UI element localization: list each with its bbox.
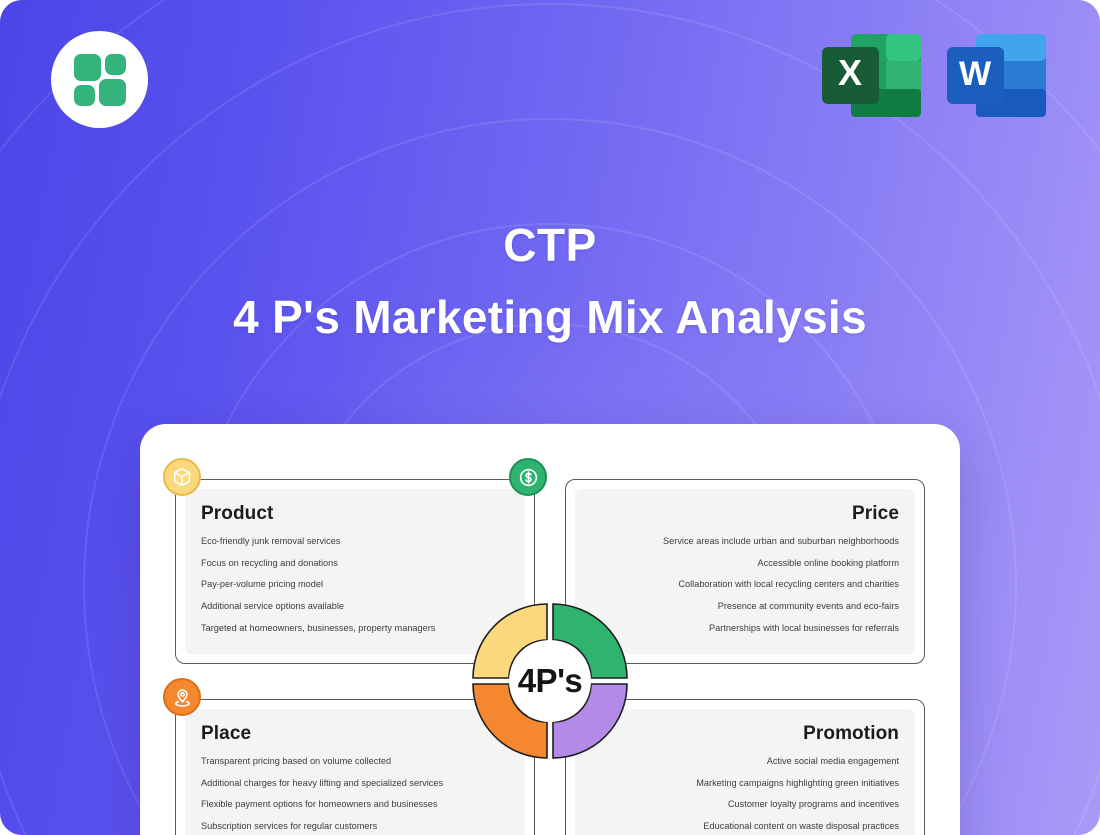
list-item: Marketing campaigns highlighting green i…	[591, 779, 899, 788]
list-item: Collaboration with local recycling cente…	[591, 580, 899, 589]
page-title: 4 P's Marketing Mix Analysis	[0, 294, 1100, 340]
matrix-card: Product Eco-friendly junk removal servic…	[140, 424, 960, 835]
list-item: Accessible online booking platform	[591, 559, 899, 568]
dollar-coin-icon[interactable]	[509, 458, 547, 496]
list-item: Eco-friendly junk removal services	[201, 537, 509, 546]
poster-canvas: X W CTP 4 P's Marketing Mix Analysis Pro…	[0, 0, 1100, 835]
word-icon[interactable]: W	[944, 28, 1049, 123]
title-eyebrow: CTP	[0, 222, 1100, 268]
excel-icon[interactable]: X	[819, 28, 924, 123]
brand-logo[interactable]	[51, 31, 148, 128]
list-item: Additional charges for heavy lifting and…	[201, 779, 509, 788]
quadrant-title-promotion: Promotion	[803, 723, 899, 745]
list-item: Focus on recycling and donations	[201, 559, 509, 568]
list-item: Pay-per-volume pricing model	[201, 580, 509, 589]
svg-text:X: X	[838, 52, 862, 93]
list-item: Customer loyalty programs and incentives	[591, 800, 899, 809]
quadrant-title-product: Product	[201, 503, 509, 525]
location-pin-icon[interactable]	[163, 678, 201, 716]
donut-center-label: 4P's	[462, 593, 638, 769]
list-item: Flexible payment options for homeowners …	[201, 800, 509, 809]
list-item: Educational content on waste disposal pr…	[591, 822, 899, 831]
four-p-donut-chart: 4P's	[462, 593, 638, 769]
four-p-matrix: Product Eco-friendly junk removal servic…	[175, 479, 925, 835]
list-item: Service areas include urban and suburban…	[591, 537, 899, 546]
svg-text:W: W	[959, 55, 992, 93]
page-title-block: CTP 4 P's Marketing Mix Analysis	[0, 222, 1100, 340]
list-item: Subscription services for regular custom…	[201, 822, 509, 831]
quadrant-title-price: Price	[852, 503, 899, 525]
grid-dashboard-icon	[74, 54, 126, 106]
package-box-icon[interactable]	[163, 458, 201, 496]
